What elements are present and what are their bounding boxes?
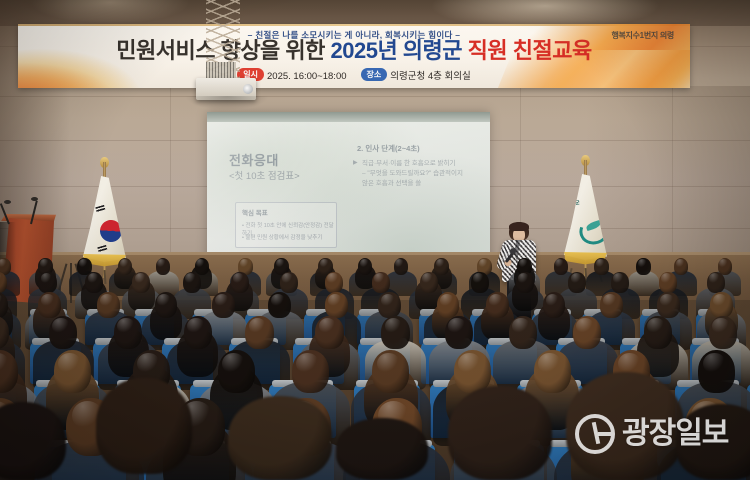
audience-member-head <box>358 258 373 275</box>
slide-callout-line-2: • 불편 민원 상황에서 감정을 낮추기 <box>242 233 322 241</box>
audience-member-head <box>245 316 273 349</box>
watermark-text: 광장일보 <box>622 419 728 449</box>
slide-right-body: 직급·부서·이름 한 호흡으로 밝히기 – "무엇을 도와드릴까요?" 습관적이… <box>362 159 482 189</box>
foreground-audience-head <box>336 418 428 480</box>
audience-member-head <box>394 258 409 275</box>
slide-callout-box: 핵심 목표 • 전화 첫 10초 안에 신뢰감(안정감) 전달하기 • 불편 민… <box>235 202 337 248</box>
gwangjang-logo-icon <box>575 414 615 454</box>
audience-member-head <box>516 272 534 293</box>
banner-sponsor-logo: 행복지수1번지 의령 <box>611 30 674 41</box>
audience-member-head <box>600 292 622 318</box>
screen-top-casing <box>207 112 490 122</box>
banner-place-pill: 장소 <box>361 68 388 81</box>
audience-member-head <box>381 316 409 349</box>
audience-member-head <box>114 316 142 349</box>
audience-member-head <box>183 272 201 293</box>
county-flag-cloth: 의령군 <box>561 174 609 260</box>
taegeuk-icon <box>98 218 125 245</box>
audience-member-head <box>118 258 133 275</box>
audience-member-head <box>85 272 103 293</box>
podium-microphone-head-right <box>31 197 38 201</box>
audience-member-head <box>54 350 91 393</box>
audience-member-head <box>420 272 438 293</box>
audience-member-head <box>325 292 347 318</box>
slide-title: 전화응대 <box>229 150 279 169</box>
audience-member-head <box>378 292 400 318</box>
audience-member-head <box>434 258 449 275</box>
podium-microphone-head-left <box>4 200 11 204</box>
audience-member-head <box>212 292 234 318</box>
screen-surface <box>207 122 490 272</box>
audience-member-head <box>231 272 249 293</box>
audience-member-head <box>49 316 77 349</box>
trigram-geon-icon <box>95 205 105 213</box>
projector-shadow <box>186 96 268 110</box>
watermark: 광장일보 <box>575 408 743 460</box>
foreground-audience-head <box>448 386 552 480</box>
projector-lens-icon <box>243 84 253 94</box>
audience-member-head <box>218 350 255 393</box>
banner-title: 민원서비스 향상을 위한 2025년 의령군 직원 친절교육 <box>18 40 690 62</box>
audience-member-head <box>445 316 473 349</box>
audience-member-head <box>674 258 689 275</box>
audience-member-head <box>709 316 737 349</box>
audience-member-head <box>636 258 651 275</box>
flag-cloth <box>80 176 128 262</box>
banner-title-highlight: 직원 친절교육 <box>468 38 592 63</box>
audience-member-head <box>471 272 489 293</box>
audience-member-head <box>486 292 508 318</box>
audience-member-head <box>292 350 329 393</box>
audience-member-head <box>437 292 459 318</box>
audience-member-head <box>97 292 119 318</box>
audience-member-head <box>534 350 571 393</box>
audience-member-head <box>710 292 732 318</box>
audience-member-head <box>594 258 609 275</box>
county-emblem-icon <box>579 216 605 238</box>
slide-bullet-marker: ▶ <box>353 159 358 166</box>
banner-place-value: 의령군청 4층 회의실 <box>390 71 470 82</box>
audience-member-head <box>268 292 290 318</box>
audience-member-head <box>315 316 343 349</box>
audience-member-head <box>554 258 569 275</box>
audience-member-head <box>280 272 298 293</box>
county-flag-label: 의령군 <box>565 199 580 208</box>
audience-member-head <box>132 272 150 293</box>
audience-member-head <box>156 258 171 275</box>
audience-member-head <box>644 316 672 349</box>
audience-member-head <box>543 292 565 318</box>
audience-member-head <box>657 292 679 318</box>
audience-member-head <box>573 316 601 349</box>
presenter-hair-front <box>509 222 529 231</box>
banner-subline: 일시2025. 16:00~18:00장소의령군청 4층 회의실 <box>18 68 690 82</box>
audience-member-head <box>38 292 60 318</box>
trigram-gon-icon <box>97 245 107 253</box>
slide-right-heading: 2. 인사 단계(2~4초) <box>357 143 420 154</box>
slide-subtitle: <첫 10초 점검표> <box>229 168 300 182</box>
banner-date-value: 2025. 16:00~18:00 <box>267 71 347 82</box>
slide-callout-heading: 핵심 목표 <box>242 207 268 217</box>
audience-member-head <box>707 272 725 293</box>
audience-member-head <box>38 272 56 293</box>
event-banner: – 친절은 나를 소모시키는 게 아니라, 회복시키는 힘이다 – 민원서비스 … <box>18 24 690 88</box>
audience-member-head <box>509 316 537 349</box>
audience-member-head <box>372 350 409 393</box>
foreground-audience-head <box>228 396 332 480</box>
audience-member-head <box>372 272 390 293</box>
audience-member-head <box>659 272 677 293</box>
audience-member-head <box>611 272 629 293</box>
audience-member-head <box>184 316 212 349</box>
audience-member-head <box>325 272 343 293</box>
photo-scene: – 친절은 나를 소모시키는 게 아니라, 회복시키는 힘이다 – 민원서비스 … <box>0 0 750 480</box>
projection-screen: 전화응대 <첫 10초 점검표> 2. 인사 단계(2~4초) ▶ 직급·부서·… <box>207 112 490 272</box>
audience-member-head <box>568 272 586 293</box>
banner-title-year: 2025년 의령군 <box>331 38 468 63</box>
foreground-audience-head <box>96 378 192 474</box>
audience-member-head <box>698 350 735 393</box>
audience-member-head <box>155 292 177 318</box>
